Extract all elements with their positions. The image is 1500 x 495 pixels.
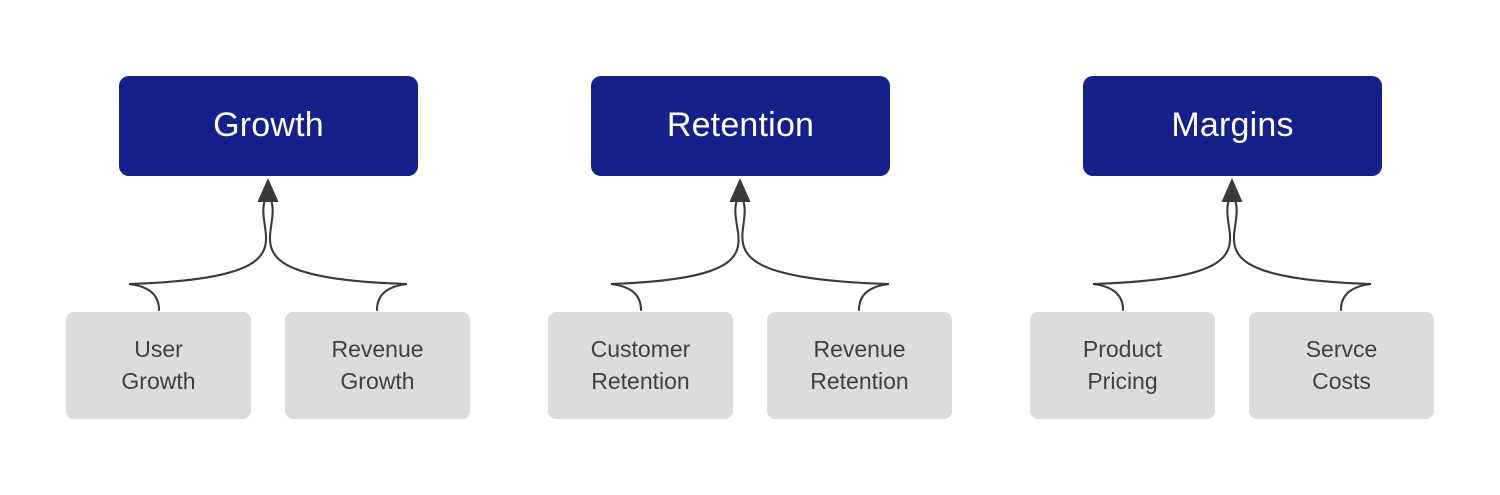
connector-curve-growth-right [270, 200, 407, 310]
node-parent-retention[interactable]: Retention [591, 76, 890, 176]
connector-layer [0, 0, 1500, 495]
node-parent-label-retention: Retention [667, 107, 814, 144]
node-parent-growth[interactable]: Growth [119, 76, 418, 176]
connector-arrowhead-margins [1222, 178, 1243, 202]
node-parent-margins[interactable]: Margins [1083, 76, 1382, 176]
connector-arrowhead-growth [258, 178, 279, 202]
connector-curve-growth-left [129, 200, 266, 310]
connector-curve-retention-left [611, 200, 739, 310]
connector-curve-margins-right [1234, 200, 1371, 310]
connector-arrowhead-retention [730, 178, 751, 202]
node-child-retention-1[interactable]: Customer Retention [548, 312, 733, 419]
node-parent-label-margins: Margins [1171, 107, 1293, 144]
node-child-growth-1[interactable]: User Growth [66, 312, 251, 419]
diagram-canvas: GrowthUser GrowthRevenue GrowthRetention… [0, 0, 1500, 495]
node-child-label-growth-2: Revenue Growth [331, 334, 423, 397]
node-child-margins-2[interactable]: Servce Costs [1249, 312, 1434, 419]
node-child-margins-1[interactable]: Product Pricing [1030, 312, 1215, 419]
node-child-label-retention-1: Customer Retention [591, 334, 691, 397]
node-child-label-margins-1: Product Pricing [1083, 334, 1162, 397]
node-parent-label-growth: Growth [213, 107, 324, 144]
node-child-label-retention-2: Revenue Retention [810, 334, 908, 397]
node-child-label-margins-2: Servce Costs [1306, 334, 1378, 397]
connector-curve-margins-left [1093, 200, 1230, 310]
connector-curve-retention-right [742, 200, 889, 310]
node-child-retention-2[interactable]: Revenue Retention [767, 312, 952, 419]
node-child-label-growth-1: User Growth [121, 334, 195, 397]
node-child-growth-2[interactable]: Revenue Growth [285, 312, 470, 419]
